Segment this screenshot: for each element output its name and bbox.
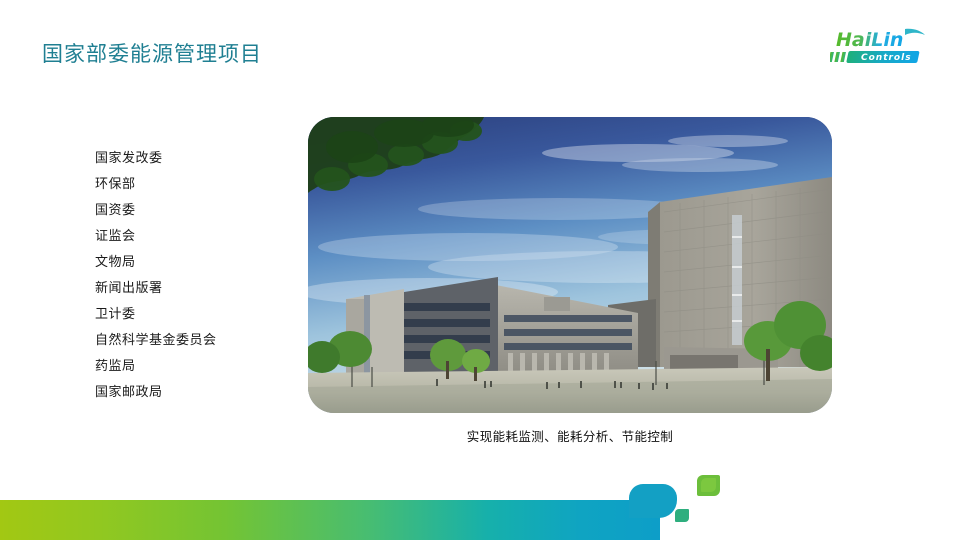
list-item: 国资委 bbox=[95, 198, 295, 224]
logo-wordmark-text: HaiLin bbox=[836, 29, 903, 51]
agency-list: 国家发改委 环保部 国资委 证监会 文物局 新闻出版署 卫计委 自然科学基金委员… bbox=[95, 146, 295, 406]
footer-gradient-bar bbox=[0, 500, 660, 540]
photo-caption: 实现能耗监测、能耗分析、节能控制 bbox=[308, 426, 832, 445]
project-photo-illustration bbox=[308, 117, 832, 413]
list-item: 环保部 bbox=[95, 172, 295, 198]
list-item: 卫计委 bbox=[95, 302, 295, 328]
footer-green-square bbox=[697, 475, 720, 496]
footer-hook-shape bbox=[629, 484, 677, 518]
leaf-icon bbox=[905, 29, 925, 35]
list-item: 新闻出版署 bbox=[95, 276, 295, 302]
logo-bars-icon bbox=[830, 52, 846, 62]
footer-teal-square bbox=[675, 509, 689, 522]
hailin-controls-logo: HaiLin Controls bbox=[830, 26, 942, 68]
list-item: 国家邮政局 bbox=[95, 380, 295, 406]
list-item: 自然科学基金委员会 bbox=[95, 328, 295, 354]
list-item: 文物局 bbox=[95, 250, 295, 276]
logo-subtitle-text: Controls bbox=[861, 53, 912, 63]
slide-canvas: 国家部委能源管理项目 bbox=[0, 0, 960, 540]
logo-svg: HaiLin Controls bbox=[830, 26, 942, 68]
page-title: 国家部委能源管理项目 bbox=[42, 40, 262, 68]
list-item: 药监局 bbox=[95, 354, 295, 380]
project-photo bbox=[308, 117, 832, 413]
list-item: 国家发改委 bbox=[95, 146, 295, 172]
list-item: 证监会 bbox=[95, 224, 295, 250]
